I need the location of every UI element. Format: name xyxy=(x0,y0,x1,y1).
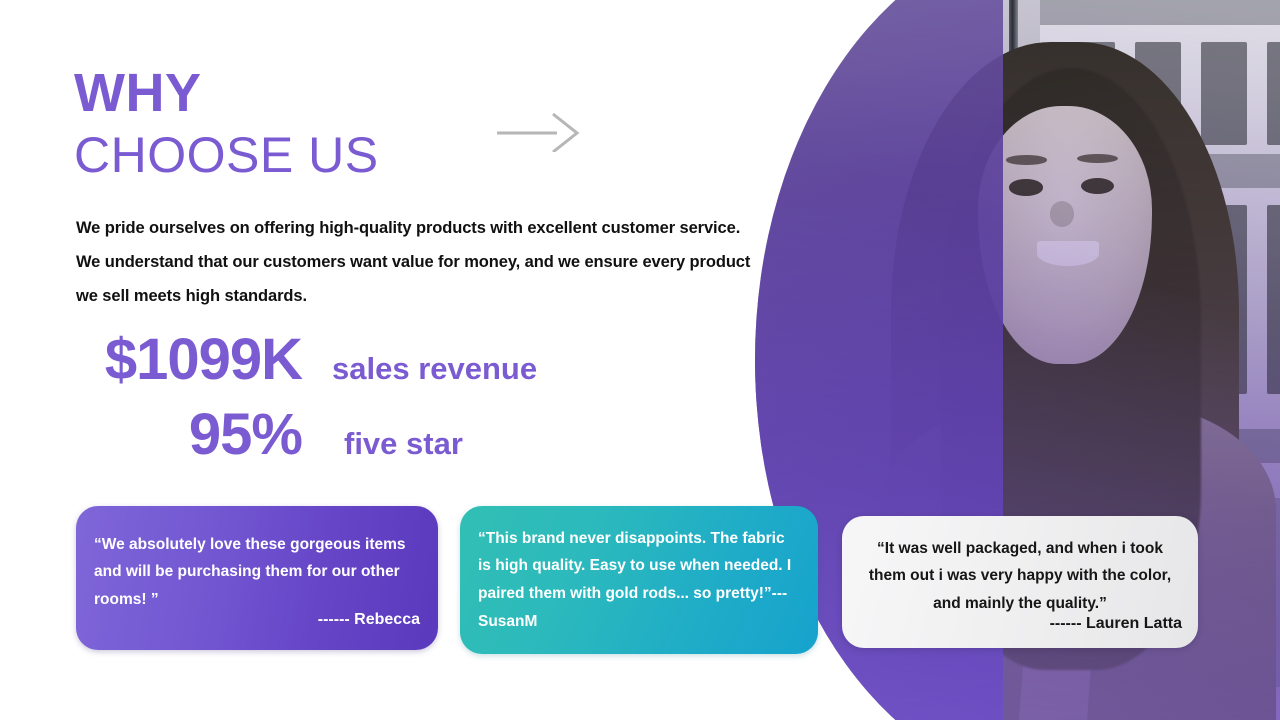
testimonial-quote: “This brand never disappoints. The fabri… xyxy=(478,525,800,635)
stat-row-revenue: $1099K sales revenue xyxy=(40,330,660,391)
testimonial-quote: “It was well packaged, and when i took t… xyxy=(858,535,1182,618)
stat-value-revenue: $1099K xyxy=(40,330,302,391)
stats-block: $1099K sales revenue 95% five star xyxy=(40,330,660,466)
testimonial-card-susanm[interactable]: “This brand never disappoints. The fabri… xyxy=(460,506,818,654)
testimonial-author: ------ Lauren Latta xyxy=(858,615,1182,633)
testimonial-card-rebecca[interactable]: “We absolutely love these gorgeous items… xyxy=(76,506,438,650)
page-title: WHY CHOOSE US xyxy=(74,66,379,185)
testimonial-author: ------ Rebecca xyxy=(94,611,420,629)
stat-label-revenue: sales revenue xyxy=(332,351,537,387)
testimonial-quote: “We absolutely love these gorgeous items… xyxy=(94,531,420,614)
slide-canvas: WHY CHOOSE US We pride ourselves on offe… xyxy=(0,0,1280,720)
heading-line-2: CHOOSE US xyxy=(74,126,379,185)
testimonial-quote-text: “This brand never disappoints. The fabri… xyxy=(478,530,791,602)
heading-line-1: WHY xyxy=(74,66,379,120)
stat-row-rating: 95% five star xyxy=(40,405,660,466)
stat-label-rating: five star xyxy=(344,426,463,462)
testimonial-author: SusanM xyxy=(478,613,537,630)
stat-value-rating: 95% xyxy=(40,405,302,466)
body-paragraph: We pride ourselves on offering high-qual… xyxy=(76,212,756,313)
arrow-right-icon xyxy=(495,112,585,152)
testimonial-card-lauren[interactable]: “It was well packaged, and when i took t… xyxy=(842,516,1198,648)
